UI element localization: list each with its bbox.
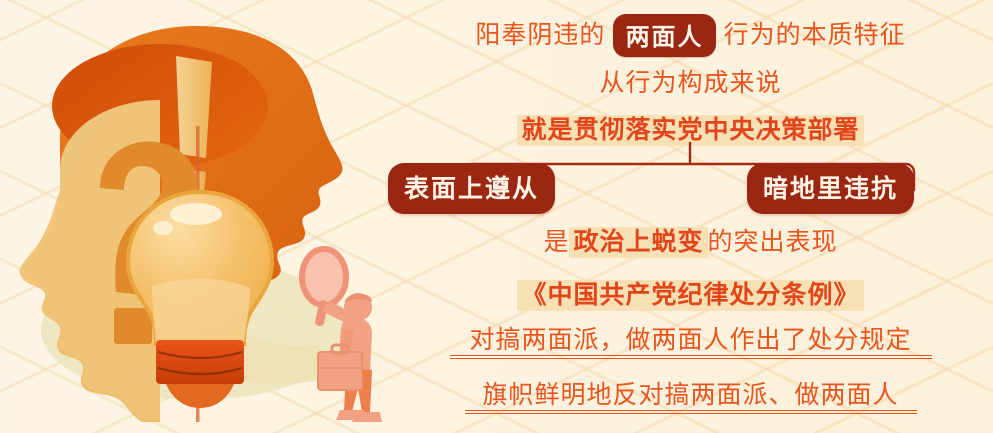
branch-chip-right: 暗地里违抗: [747, 163, 914, 214]
split-head-lightbulb-illustration: [0, 0, 400, 433]
headline-line-1-after: 行为的本质特征: [724, 22, 906, 49]
highlight-discipline-regulations: 《中国共产党纪律处分条例》: [517, 280, 863, 311]
headline-line-7-text: 旗帜鲜明地反对搞两面派、做两面人: [482, 382, 898, 409]
underline-rule-1: [388, 355, 993, 359]
infographic-canvas: 阳奉阴违的 两面人 行为的本质特征 从行为构成来说 就是贯彻落实党中央决策部署 …: [0, 0, 993, 433]
highlight-political-degeneration: 政治上蜕变: [569, 227, 707, 258]
figure-shoe-back: [352, 412, 382, 422]
bulb-highlight-large: [170, 203, 222, 225]
branch-chip-left: 表面上遵从: [388, 163, 555, 214]
briefcase-icon: [318, 345, 362, 390]
headline-line-1: 阳奉阴违的 两面人 行为的本质特征: [388, 14, 993, 57]
highlight-central-deployment: 就是贯彻落实党中央决策部署: [517, 115, 863, 146]
underline-rule-2: [388, 410, 993, 414]
headline-line-4-after: 的突出表现: [708, 229, 838, 256]
headline-line-4-before: 是: [543, 229, 569, 256]
headline-line-5: 《中国共产党纪律处分条例》: [388, 275, 993, 311]
bulb-inner-glow: [152, 279, 250, 344]
headline-line-6-text: 对搞两面派，做两面人作出了处分规定: [469, 327, 911, 354]
headline-line-6: 对搞两面派，做两面人作出了处分规定: [388, 320, 993, 356]
headline-line-3: 就是贯彻落实党中央决策部署: [388, 110, 993, 146]
bulb-highlight-small: [153, 221, 173, 235]
headline-line-1-before: 阳奉阴违的: [475, 22, 605, 49]
chip-liangmianren: 两面人: [613, 14, 717, 57]
headline-line-2-text: 从行为构成来说: [599, 70, 781, 97]
headline-line-7: 旗帜鲜明地反对搞两面派、做两面人: [388, 375, 993, 411]
text-column: 阳奉阴违的 两面人 行为的本质特征 从行为构成来说 就是贯彻落实党中央决策部署 …: [388, 0, 993, 433]
headline-line-4: 是政治上蜕变的突出表现: [388, 222, 993, 258]
headline-line-2: 从行为构成来说: [388, 63, 993, 99]
